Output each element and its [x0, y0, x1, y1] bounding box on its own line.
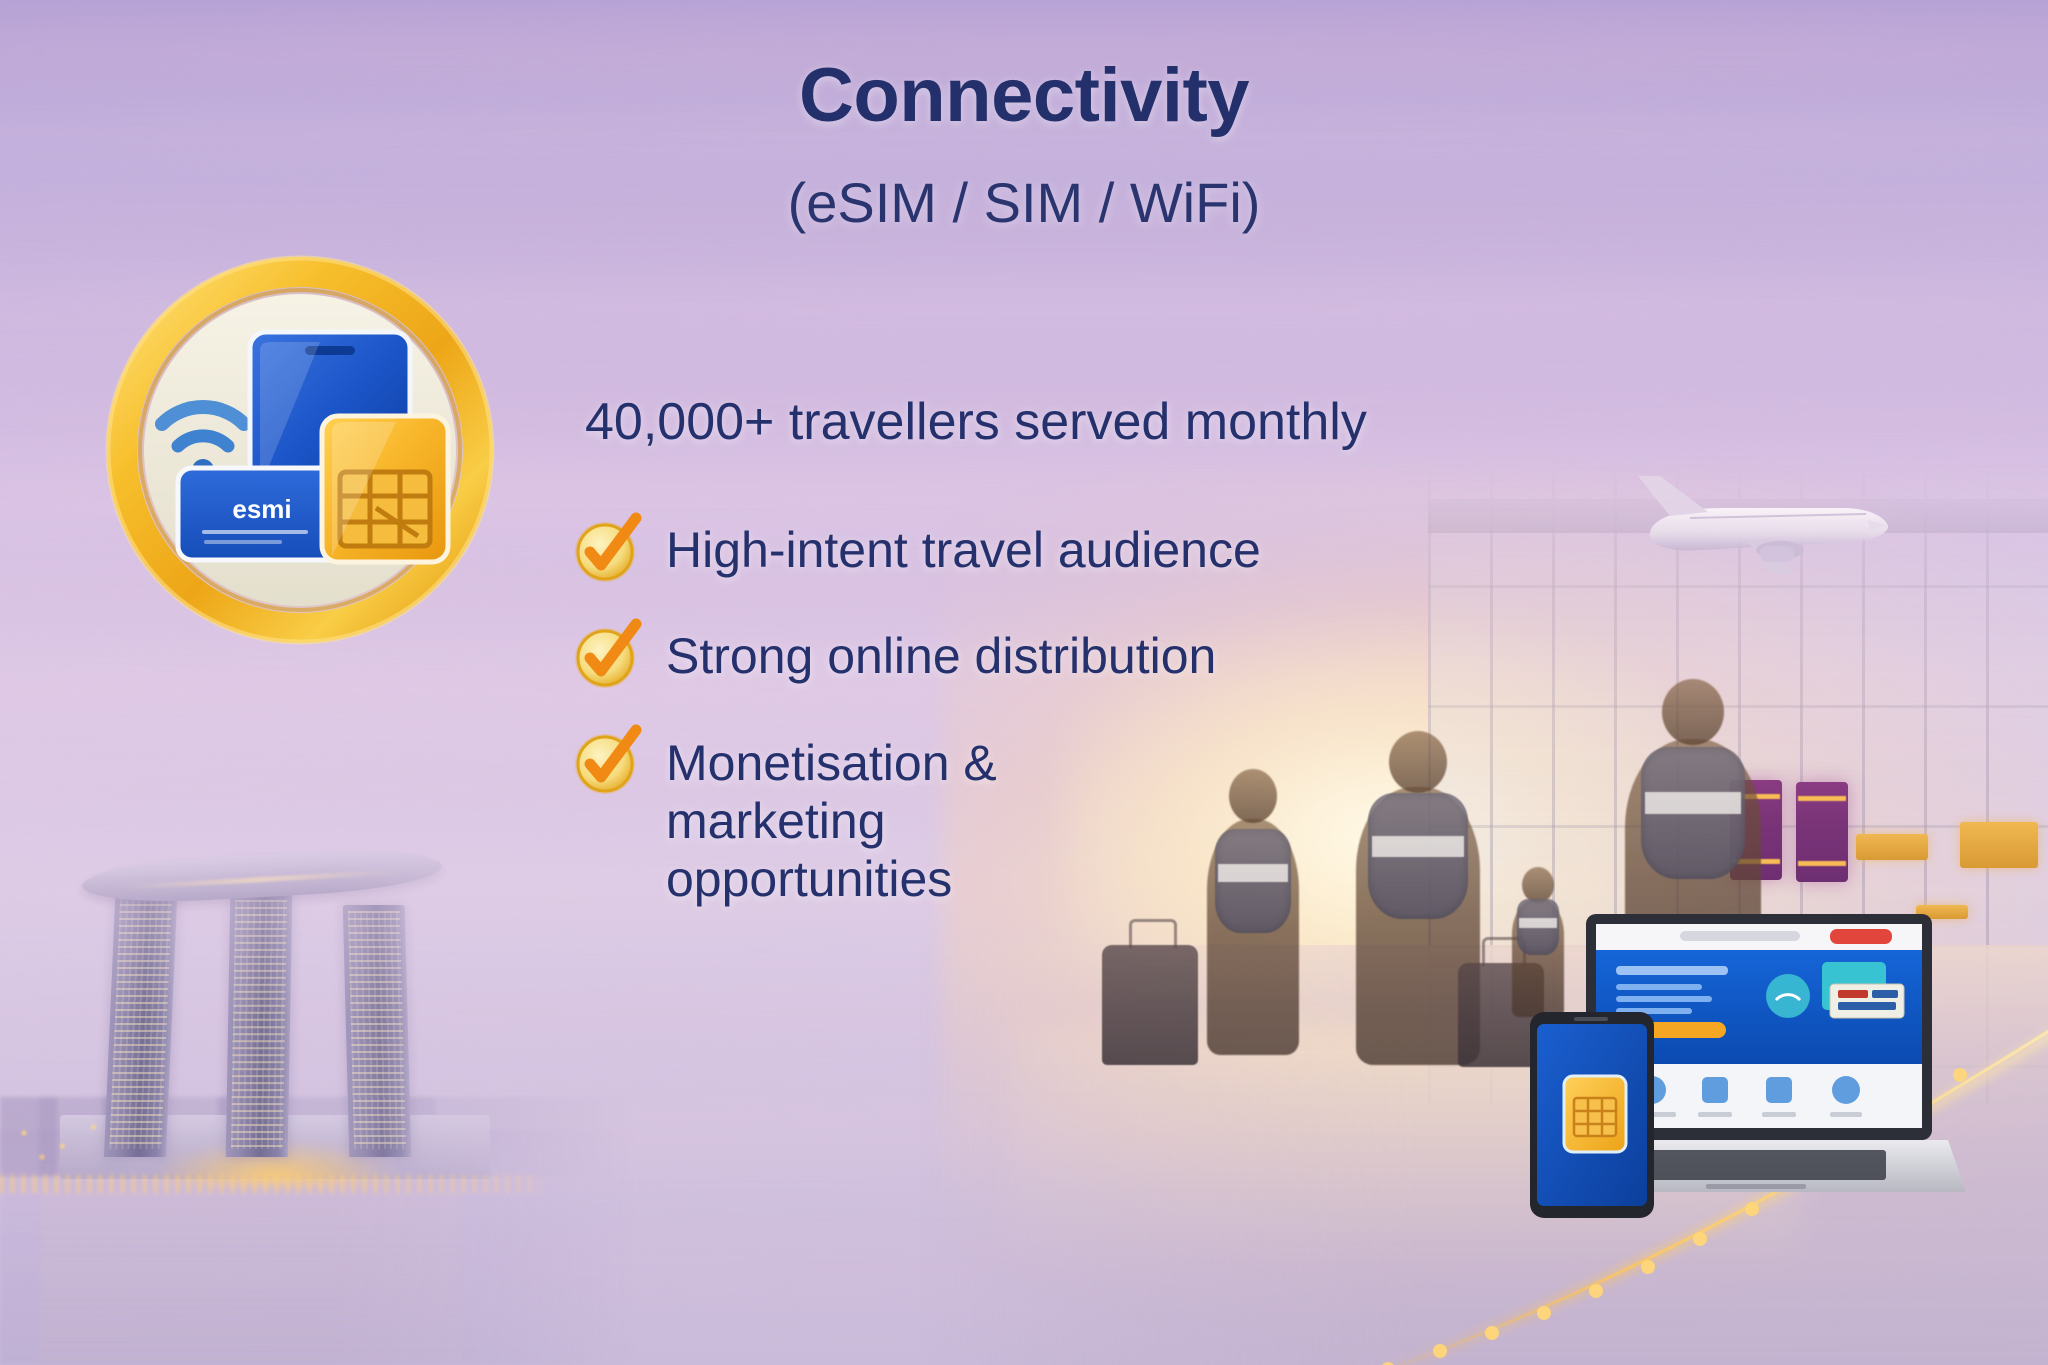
headline-stat: 40,000+ travellers served monthly: [585, 392, 1367, 452]
shore-lights: [0, 1175, 540, 1193]
sim-card-icon: [322, 416, 448, 562]
list-item-label: Strong online distribution: [666, 624, 1216, 686]
connectivity-badge: esmi: [100, 250, 500, 650]
terminal-shop-sign-2: [1960, 822, 2038, 868]
mbs-tower-2: [226, 894, 293, 1157]
terminal-shop-sign-1: [1856, 834, 1928, 860]
mbs-tower-3: [343, 905, 412, 1157]
page-subtitle: (eSIM / SIM / WiFi): [0, 170, 2048, 235]
city-lights: [0, 1109, 120, 1169]
list-item: High-intent travel audience: [570, 518, 1450, 586]
list-item: Strong online distribution: [570, 624, 1450, 692]
list-item-label: High-intent travel audience: [666, 518, 1261, 580]
suitcase-left: [1102, 945, 1198, 1065]
check-circle-icon: [570, 618, 644, 692]
smartphone-mockup: [1530, 1012, 1654, 1218]
terminal-billboard-2: [1796, 782, 1848, 882]
list-item: Monetisation & marketing opportunities: [570, 730, 1450, 908]
esim-card-label: esmi: [232, 494, 291, 524]
marina-bay-sands-scene: [0, 805, 640, 1365]
slide-canvas: esmi Connectivity (eSIM / SIM / WiFi): [0, 0, 2048, 1365]
check-circle-icon: [570, 512, 644, 586]
bullet-list: High-intent travel audience Strong onlin…: [570, 518, 1450, 946]
page-title: Connectivity: [0, 52, 2048, 139]
water-reflection: [40, 1195, 460, 1365]
mbs-towers: [110, 877, 410, 1157]
device-mockups: [1530, 900, 1970, 1220]
airplane-icon: [1630, 470, 1910, 600]
check-circle-icon: [570, 724, 644, 798]
list-item-label: Monetisation & marketing opportunities: [666, 730, 1096, 908]
